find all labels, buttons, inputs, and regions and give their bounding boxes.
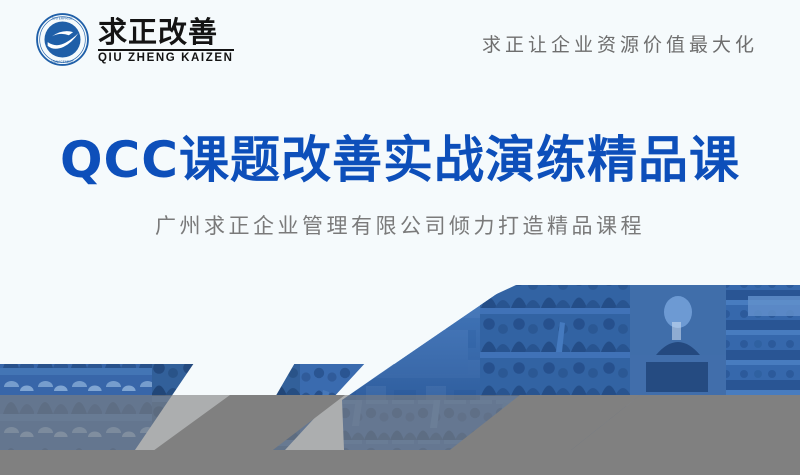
page-subtitle: 广州求正企业管理有限公司倾力打造精品课程 (0, 210, 800, 240)
brand-name-cn: 求正改善 (98, 17, 234, 47)
hero-text-block: QCC课题改善实战演练精品课 广州求正企业管理有限公司倾力打造精品课程 (0, 132, 800, 240)
brand-divider (98, 49, 234, 51)
header-tagline: 求正让企业资源价值最大化 (482, 30, 758, 57)
brand-logo[interactable]: ENTERPRISE MANAGEMENT 求正改善 QIU ZHENG KAI… (36, 13, 234, 66)
page-title: QCC课题改善实战演练精品课 (0, 132, 800, 188)
brand-name-pinyin: QIU ZHENG KAIZEN (98, 53, 234, 65)
poster-canvas: ENTERPRISE MANAGEMENT 求正改善 QIU ZHENG KAI… (0, 0, 800, 475)
circular-swoosh-emblem: ENTERPRISE MANAGEMENT (36, 13, 89, 66)
brand-wordmark: 求正改善 QIU ZHENG KAIZEN (98, 15, 234, 65)
gray-base-strip (0, 450, 800, 475)
poster-header: ENTERPRISE MANAGEMENT 求正改善 QIU ZHENG KAI… (0, 0, 800, 88)
svg-text:MANAGEMENT: MANAGEMENT (51, 60, 74, 64)
svg-text:ENTERPRISE: ENTERPRISE (52, 16, 72, 20)
